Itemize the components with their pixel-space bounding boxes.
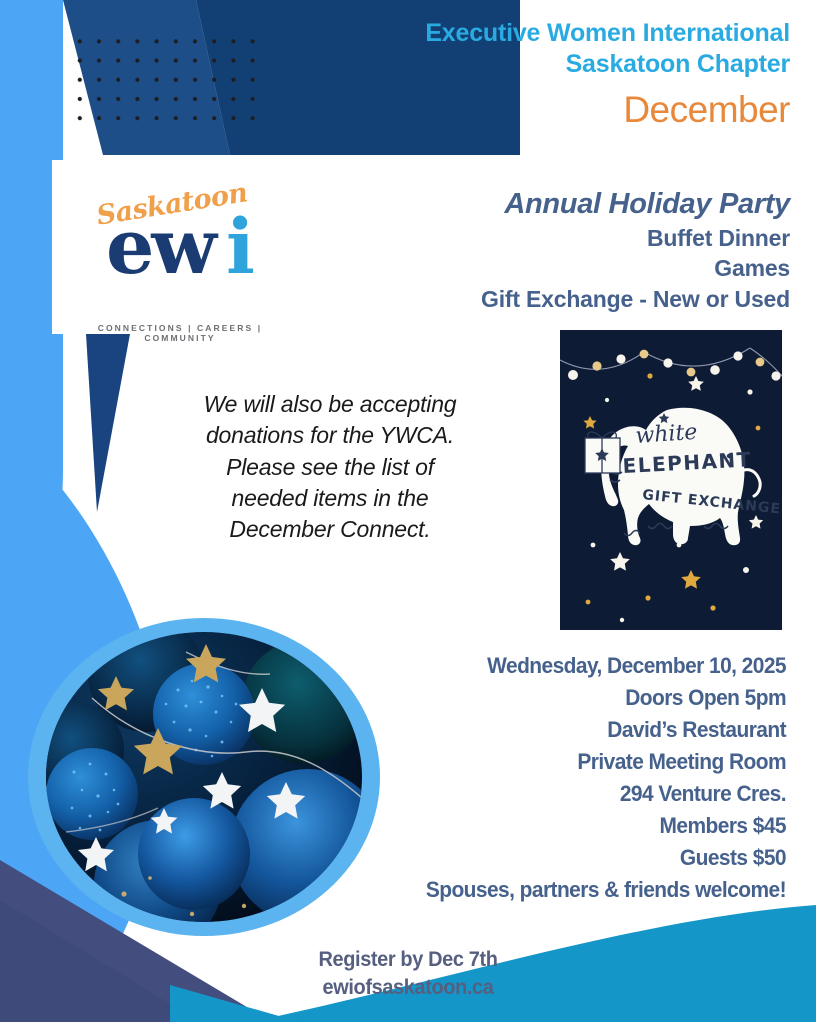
event-feature-3: Gift Exchange - New or Used [230,284,790,315]
donation-line-3: Please see the list of [155,452,505,483]
event-details: Wednesday, December 10, 2025 Doors Open … [266,650,786,906]
white-elephant-word-1: white [635,420,698,449]
detail-welcome-note: Spouses, partners & friends welcome! [302,874,786,906]
detail-venue: David’s Restaurant [302,714,786,746]
donation-note: We will also be accepting donations for … [155,389,505,545]
poster-canvas: Executive Women International Saskatoon … [0,0,816,1022]
donation-line-1: We will also be accepting [155,389,505,420]
website-link[interactable]: ewiofsaskatoon.ca [20,974,795,1002]
detail-date: Wednesday, December 10, 2025 [302,650,786,682]
event-feature-1: Buffet Dinner [230,223,790,254]
event-summary: Annual Holiday Party Buffet Dinner Games… [230,186,790,314]
detail-price-guests: Guests $50 [302,842,786,874]
donation-line-4: needed items in the [155,483,505,514]
donation-line-5: December Connect. [155,514,505,545]
white-elephant-image: white ELEPHANT GIFT EXCHANGE [560,330,782,630]
white-elephant-illustration: white ELEPHANT GIFT EXCHANGE [560,330,782,630]
month-title: December [230,87,790,133]
event-title: Annual Holiday Party [230,186,790,223]
detail-price-members: Members $45 [302,810,786,842]
poster-footer: Register by Dec 7th ewiofsaskatoon.ca [0,946,816,1003]
logo-tagline: CONNECTIONS | CAREERS | COMMUNITY [80,323,280,343]
logo-acronym-ew: ew [106,209,214,285]
detail-address: 294 Venture Cres. [302,778,786,810]
organization-line-2: Saskatoon Chapter [230,49,790,80]
organization-line-1: Executive Women International [230,18,790,49]
detail-doors: Doors Open 5pm [302,682,786,714]
donation-line-2: donations for the YWCA. [155,420,505,451]
poster-header: Executive Women International Saskatoon … [230,18,790,133]
event-feature-2: Games [230,253,790,284]
register-deadline: Register by Dec 7th [20,946,795,974]
detail-room: Private Meeting Room [302,746,786,778]
